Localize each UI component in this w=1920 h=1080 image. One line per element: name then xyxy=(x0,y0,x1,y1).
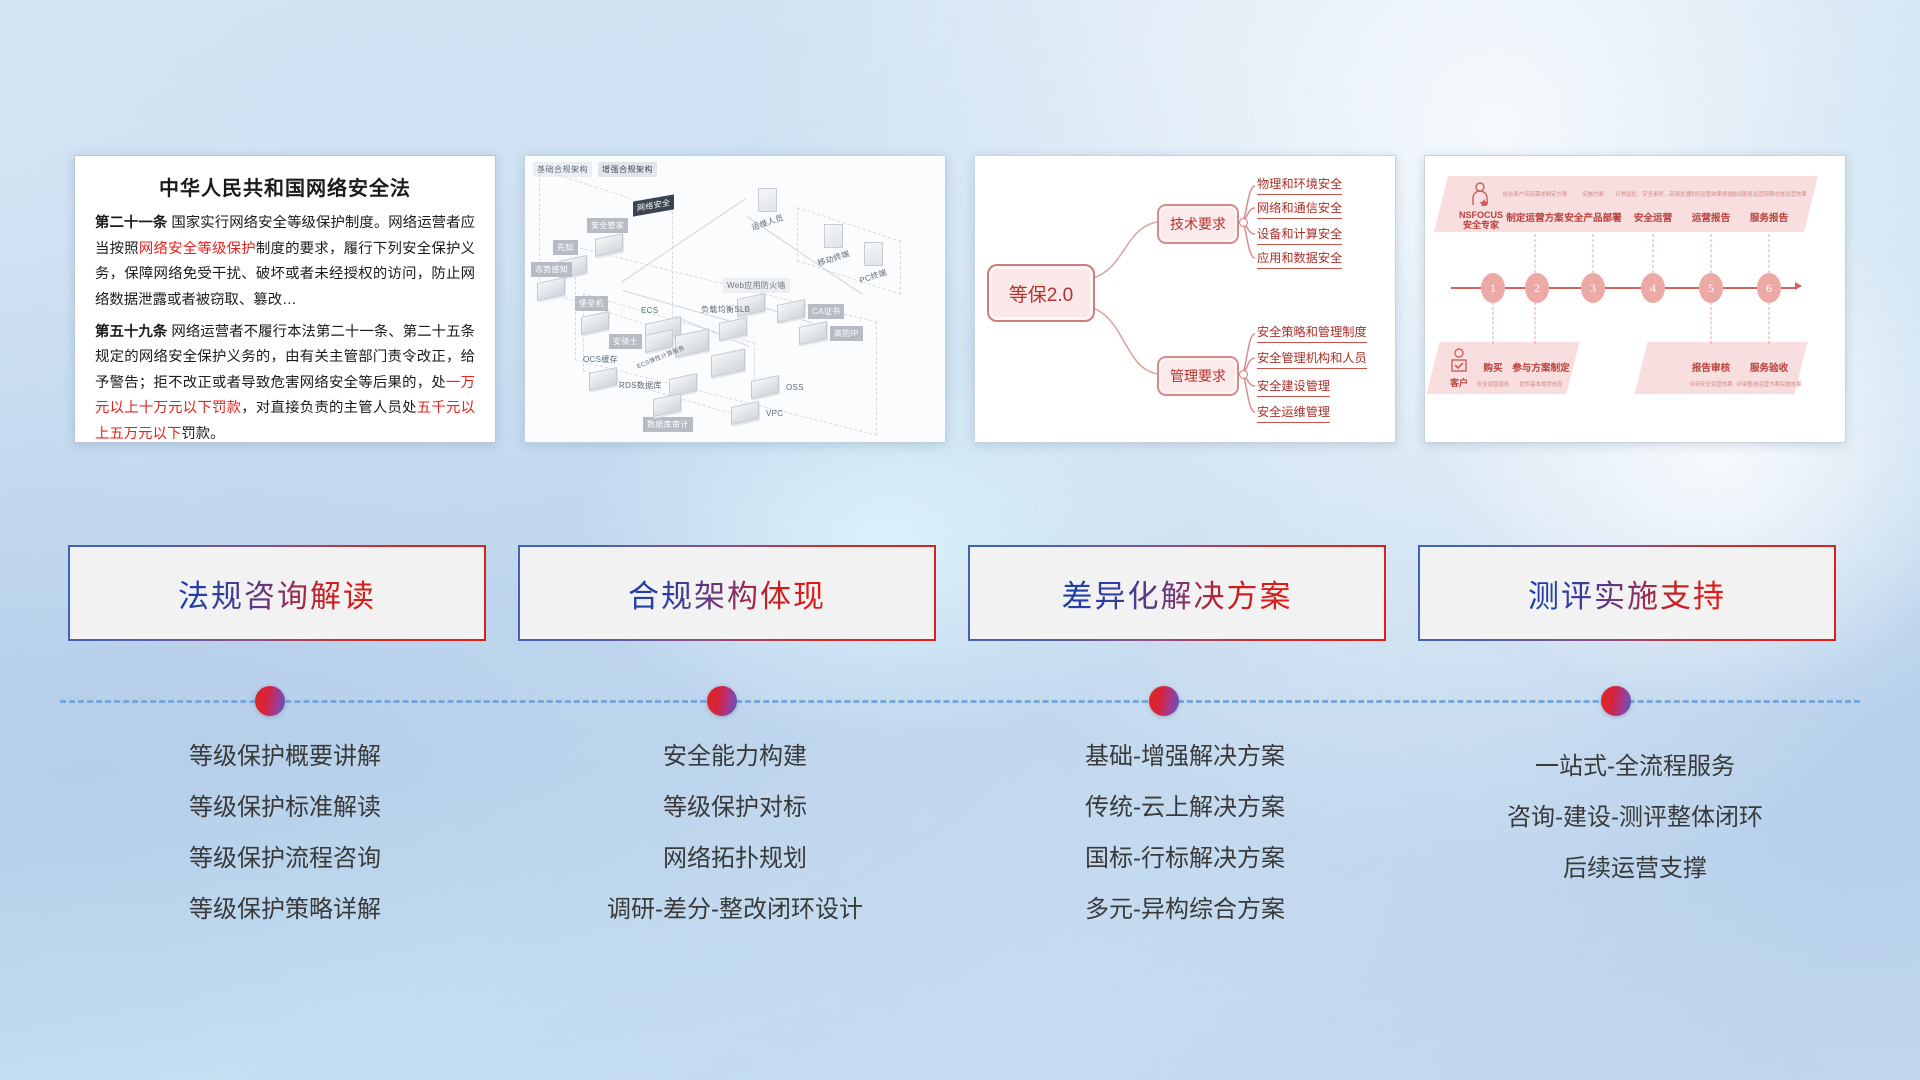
customer-role-label: 客户 xyxy=(1450,378,1468,388)
arch-node-ca-certificate: CA证书 xyxy=(777,302,844,320)
law-article-21-highlight: 网络安全等级保护 xyxy=(139,241,256,257)
expert-role-line-2: 安全专家 xyxy=(1463,220,1499,230)
arrow-right-icon xyxy=(1795,282,1802,290)
arch-node-situational-awareness: 态势感知 xyxy=(531,262,572,298)
column-2-list: 安全能力构建 等级保护对标 网络拓扑规划 调研-差分-整改闭环设计 xyxy=(510,745,960,949)
arch-node-ecs-cluster-b xyxy=(711,352,745,374)
timeline-tick xyxy=(1653,234,1654,278)
list-item: 安全能力构建 xyxy=(510,745,960,769)
timeline-step-node[interactable]: 4 xyxy=(1641,273,1665,303)
arch-node-bastion-host: 堡垒机 xyxy=(575,296,609,332)
law-article-59: 第五十九条 网络运营者不履行本法第二十一条、第二十五条规定的网络安全保护义务的，… xyxy=(95,320,475,443)
law-title: 中华人民共和国网络安全法 xyxy=(95,172,475,201)
expert-role-label: NSFOCUS 安全专家 xyxy=(1459,210,1503,231)
step-sub: 阶段运营效果报告 xyxy=(1689,190,1732,198)
step-sub: 日常巡检、安全事件、高周处置 xyxy=(1615,190,1690,198)
timeline-tick xyxy=(1769,234,1770,278)
customer-step-title: 报告审核 xyxy=(1692,360,1730,374)
list-item: 国标-行标解决方案 xyxy=(960,847,1410,871)
arch-node-ops-staff: 运维人员 xyxy=(747,188,788,230)
server-3d-icon xyxy=(669,373,697,397)
timeline-tick xyxy=(1769,302,1770,344)
server-3d-icon xyxy=(581,311,609,335)
timeline-tick xyxy=(1593,234,1594,278)
arch-node-label: Web应用防火墙 xyxy=(723,278,790,293)
timeline-tick xyxy=(1711,234,1712,278)
arch-node-label: OCS缓存 xyxy=(579,352,622,367)
law-article-59-text-b: ，对直接负责的主管人员处 xyxy=(241,400,416,416)
arch-node-label: 运维人员 xyxy=(746,209,790,236)
preview-card-1-wrap[interactable]: 中华人民共和国网络安全法 第二十一条 国家实行网络安全等级保护制度。网络运营者应… xyxy=(74,155,496,443)
list-item: 等级保护对标 xyxy=(510,796,960,820)
title-plate-1[interactable]: 法规咨询解读 xyxy=(70,547,484,639)
list-item: 等级保护标准解读 xyxy=(60,796,510,820)
list-item: 传统-云上解决方案 xyxy=(960,796,1410,820)
step-title: 制定运营方案 xyxy=(1506,210,1564,224)
column-4: NSFOCUS 安全专家 结合客户实际需求制定方案 制定运营方案 实施方案 安全… xyxy=(1410,0,1860,1080)
server-3d-icon xyxy=(589,367,617,391)
customer-step-sub: 评审安全运营效果 xyxy=(1689,380,1732,388)
server-3d-icon xyxy=(537,277,565,301)
preview-card-4-wrap[interactable]: NSFOCUS 安全专家 结合客户实际需求制定方案 制定运营方案 实施方案 安全… xyxy=(1424,155,1846,443)
timeline-dot-4[interactable] xyxy=(1601,686,1631,716)
arch-node-label: ECS xyxy=(637,304,662,317)
column-2: 基础合规架构 增强合规架构 网络安全 安全管 xyxy=(510,0,960,1080)
monitor-3d-icon xyxy=(758,188,777,212)
title-plate-4[interactable]: 测评实施支持 xyxy=(1420,547,1834,639)
list-item: 多元-异构综合方案 xyxy=(960,898,1410,922)
column-3: 等保2.0 技术要求 物理和环境安全 网络和通信安全 设备和计算安全 应用和数据… xyxy=(960,0,1410,1080)
column-3-title: 差异化解决方案 xyxy=(1062,571,1293,616)
expert-role-line-1: NSFOCUS xyxy=(1459,210,1503,220)
column-1-title: 法规咨询解读 xyxy=(178,571,376,616)
timeline-step-node[interactable]: 6 xyxy=(1757,273,1781,303)
arch-node-db-audit: 数据库审计 xyxy=(643,396,693,432)
title-plate-3[interactable]: 差异化解决方案 xyxy=(970,547,1384,639)
arch-node-label: 安全管家 xyxy=(587,218,628,233)
monitor-3d-icon xyxy=(864,242,883,266)
mindmap-collapse-dot[interactable] xyxy=(1239,218,1248,227)
process-timeline-line xyxy=(60,700,1860,705)
list-item: 等级保护策略详解 xyxy=(60,898,510,922)
mindmap-branch-technical[interactable]: 技术要求 xyxy=(1157,204,1239,244)
server-3d-icon xyxy=(731,401,759,425)
expert-person-icon xyxy=(1469,182,1491,206)
server-3d-icon xyxy=(595,233,623,257)
column-1-list: 等级保护概要讲解 等级保护标准解读 等级保护流程咨询 等级保护策略详解 xyxy=(60,745,510,949)
step-title: 服务报告 xyxy=(1750,210,1788,224)
column-4-list: 一站式-全流程服务 咨询-建设-测评整体闭环 后续运营支撑 xyxy=(1410,755,1860,908)
column-4-title: 测评实施支持 xyxy=(1528,571,1726,616)
server-3d-icon xyxy=(653,393,681,417)
server-3d-icon xyxy=(799,321,827,345)
server-3d-icon xyxy=(777,299,805,323)
preview-card-3-wrap[interactable]: 等保2.0 技术要求 物理和环境安全 网络和通信安全 设备和计算安全 应用和数据… xyxy=(974,155,1396,443)
tab-enhanced-architecture[interactable]: 增强合规架构 xyxy=(598,162,657,177)
mindmap-collapse-dot[interactable] xyxy=(1239,370,1248,379)
list-item: 等级保护流程咨询 xyxy=(60,847,510,871)
customer-step-sub: 安全运营服务 xyxy=(1477,380,1509,388)
arch-node-security-butler: 安全管家 xyxy=(587,218,628,254)
arch-node-label: 数据库审计 xyxy=(643,417,693,432)
step-title: 安全产品部署 xyxy=(1564,210,1622,224)
arch-node-label: VPC xyxy=(762,407,787,420)
step-title: 安全运营 xyxy=(1634,210,1672,224)
law-article-21-label: 第二十一条 xyxy=(95,215,167,231)
list-item: 等级保护概要讲解 xyxy=(60,745,510,769)
arch-node-mobile-terminal: 移动终端 xyxy=(813,224,854,266)
law-article-59-label: 第五十九条 xyxy=(95,324,167,340)
list-item: 网络拓扑规划 xyxy=(510,847,960,871)
mindmap-leaf: 设备和计算安全 xyxy=(1257,224,1342,245)
law-preview-card[interactable]: 中华人民共和国网络安全法 第二十一条 国家实行网络安全等级保护制度。网络运营者应… xyxy=(74,155,496,443)
column-3-list: 基础-增强解决方案 传统-云上解决方案 国标-行标解决方案 多元-异构综合方案 xyxy=(960,745,1410,949)
customer-step-sub: 提供基本现状信息 xyxy=(1519,380,1562,388)
mindmap-preview-card[interactable]: 等保2.0 技术要求 物理和环境安全 网络和通信安全 设备和计算安全 应用和数据… xyxy=(974,155,1396,443)
list-item: 调研-差分-整改闭环设计 xyxy=(510,898,960,922)
arch-node-anti-ddos-ip: 高防IP xyxy=(799,324,863,342)
law-article-59-text-c: 罚款。 xyxy=(181,426,224,442)
arch-node-label: 高防IP xyxy=(830,326,863,341)
arch-node-label: CA证书 xyxy=(808,304,844,319)
mindmap-leaf: 网络和通信安全 xyxy=(1257,198,1342,219)
step-sub: 实施方案 xyxy=(1582,190,1604,198)
law-article-21: 第二十一条 国家实行网络安全等级保护制度。网络运营者应当按照网络安全等级保护制度… xyxy=(95,211,475,314)
server-3d-icon xyxy=(751,375,779,399)
timeline-step-node[interactable]: 5 xyxy=(1699,273,1723,303)
mindmap-root[interactable]: 等保2.0 xyxy=(987,264,1095,322)
column-2-title: 合规架构体现 xyxy=(628,571,826,616)
list-item: 咨询-建设-测评整体闭环 xyxy=(1410,806,1860,830)
mindmap-leaf: 安全运维管理 xyxy=(1257,402,1330,423)
mindmap-leaf: 安全策略和管理制度 xyxy=(1257,322,1367,343)
arch-node-label: 负载均衡SLB xyxy=(697,302,754,317)
customer-step-title: 购买 xyxy=(1483,360,1502,374)
architecture-preview-card[interactable]: 基础合规架构 增强合规架构 网络安全 安全管 xyxy=(524,155,946,443)
timeline-dot-1[interactable] xyxy=(255,686,285,716)
arch-node-pc-terminal: PC终端 xyxy=(855,242,891,284)
mindmap-leaf: 物理和环境安全 xyxy=(1257,174,1342,195)
timeline-step-node[interactable]: 3 xyxy=(1581,273,1605,303)
title-plate-3-frame[interactable]: 差异化解决方案 xyxy=(968,545,1386,641)
mindmap-leaf: 应用和数据安全 xyxy=(1257,248,1342,269)
step-title: 运营报告 xyxy=(1692,210,1730,224)
columns-grid: 中华人民共和国网络安全法 第二十一条 国家实行网络安全等级保护制度。网络运营者应… xyxy=(0,0,1920,1080)
monitor-3d-icon xyxy=(824,224,843,248)
mindmap-branch-label: 技术要求 xyxy=(1170,214,1226,234)
server-3d-icon xyxy=(719,317,747,341)
title-plate-2[interactable]: 合规架构体现 xyxy=(520,547,934,639)
title-plate-4-frame[interactable]: 测评实施支持 xyxy=(1418,545,1836,641)
timeline-tick xyxy=(1535,302,1536,344)
server-3d-icon xyxy=(711,348,745,377)
mindmap-leaf: 安全管理机构和人员 xyxy=(1257,348,1367,369)
timeline-step-node[interactable]: 1 xyxy=(1481,273,1505,303)
step-sub: 输出服务运营周期总体运营效果 xyxy=(1731,190,1806,198)
mindmap-branch-label: 管理要求 xyxy=(1170,366,1226,386)
mindmap-branch-management[interactable]: 管理要求 xyxy=(1157,356,1239,396)
timeline-dot-3[interactable] xyxy=(1149,686,1179,716)
timeline-dot-2[interactable] xyxy=(707,686,737,716)
customer-step-title: 服务验收 xyxy=(1750,360,1788,374)
arch-node-vpc: VPC xyxy=(731,404,787,422)
arch-node-label: 安骑士 xyxy=(609,334,642,349)
step-sub: 结合客户实际需求制定方案 xyxy=(1503,190,1568,198)
service-timeline-preview-card[interactable]: NSFOCUS 安全专家 结合客户实际需求制定方案 制定运营方案 实施方案 安全… xyxy=(1424,155,1846,443)
timeline-tick xyxy=(1535,234,1536,278)
title-plate-1-frame[interactable]: 法规咨询解读 xyxy=(68,545,486,641)
mindmap-leaf: 安全建设管理 xyxy=(1257,376,1330,397)
arch-node-label: RDS数据库 xyxy=(615,378,666,393)
timeline-tick xyxy=(1493,302,1494,344)
mindmap-root-label: 等保2.0 xyxy=(1009,280,1073,307)
list-item: 基础-增强解决方案 xyxy=(960,745,1410,769)
arch-node-label: OSS xyxy=(782,381,808,394)
timeline-step-node[interactable]: 2 xyxy=(1525,273,1549,303)
list-item: 一站式-全流程服务 xyxy=(1410,755,1860,779)
arch-node-label: 堡垒机 xyxy=(575,296,608,311)
preview-card-2-wrap[interactable]: 基础合规架构 增强合规架构 网络安全 安全管 xyxy=(524,155,946,443)
arch-node-label: 态势感知 xyxy=(531,262,572,277)
timeline-tick xyxy=(1711,302,1712,344)
customer-step-sub: 评审整体运营方案实施效果 xyxy=(1737,380,1802,388)
customer-step-title: 参与方案制定 xyxy=(1512,360,1570,374)
column-1: 中华人民共和国网络安全法 第二十一条 国家实行网络安全等级保护制度。网络运营者应… xyxy=(60,0,510,1080)
list-item: 后续运营支撑 xyxy=(1410,857,1860,881)
customer-person-icon xyxy=(1449,348,1469,374)
arch-node-label: 先知 xyxy=(553,240,578,255)
title-plate-2-frame[interactable]: 合规架构体现 xyxy=(518,545,936,641)
arch-node-rds: RDS数据库 xyxy=(615,376,697,394)
arch-node-oss: OSS xyxy=(751,378,808,396)
